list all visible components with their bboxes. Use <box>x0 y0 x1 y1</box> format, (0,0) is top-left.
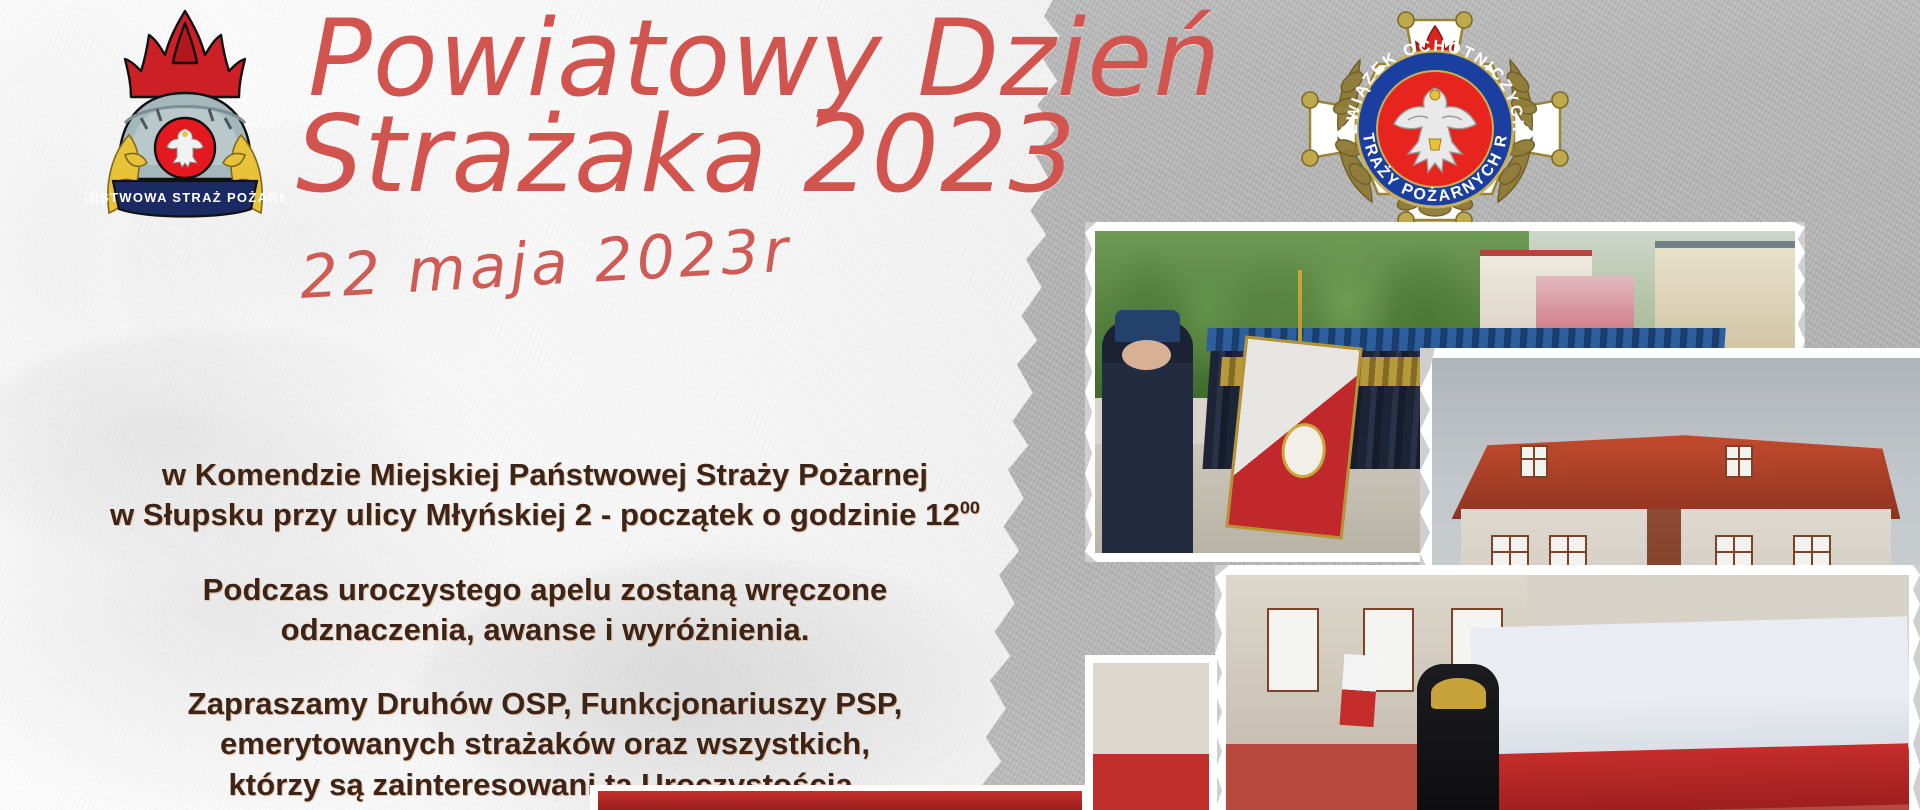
body-line: emerytowanych strażaków oraz wszystkich, <box>0 724 1090 764</box>
psp-emblem: PAŃSTWOWA STRAŻ POŻARNA <box>85 5 285 220</box>
psp-banner-text: PAŃSTWOWA STRAŻ POŻARNA <box>85 190 285 205</box>
photo-red-white-banner <box>1225 335 1363 539</box>
photo-officer-cap <box>1115 310 1181 342</box>
body-line: Zapraszamy Druhów OSP, Funkcjonariuszy P… <box>0 684 1090 724</box>
title-line-2: Strażaka 2023 <box>296 104 1110 206</box>
photo-flag-raising <box>1215 565 1920 810</box>
photo-gold-helmet <box>1431 678 1486 709</box>
photo-window <box>1725 445 1753 478</box>
body-copy: w Komendzie Miejskiej Państwowej Straży … <box>0 455 1090 810</box>
photo-banner-medallion <box>1279 421 1329 480</box>
photo-window <box>1520 445 1548 478</box>
zosp-rp-emblem: ZWIĄZEK OCHOTNICZYCH STRAŻY POŻARNYCH RP <box>1300 2 1570 237</box>
photo-window <box>1267 608 1319 692</box>
photo-officer-face <box>1122 340 1171 370</box>
time-superscript: 00 <box>960 498 980 518</box>
poster-title: Powiatowy Dzień Strażaka 2023 <box>290 8 1110 206</box>
photo-red-banner-stripe <box>1471 743 1909 810</box>
body-paragraph-2: Podczas uroczystego apelu zostaną wręczo… <box>0 570 1090 651</box>
photo-white-banner <box>1470 616 1909 759</box>
body-line: w Słupsku przy ulicy Młyńskiej 2 - począ… <box>0 495 1090 535</box>
photo-polish-flag <box>1340 654 1379 727</box>
body-paragraph-1: w Komendzie Miejskiej Państwowej Straży … <box>0 455 1090 536</box>
photo-bottom-strip <box>590 785 1090 810</box>
body-line: odznaczenia, awanse i wyróżnienia. <box>0 610 1090 650</box>
body-line: Podczas uroczystego apelu zostaną wręczo… <box>0 570 1090 610</box>
photo-sliver-left <box>1085 655 1217 810</box>
photo-officer <box>1102 321 1193 553</box>
body-line: w Komendzie Miejskiej Państwowej Straży … <box>0 455 1090 495</box>
poster-canvas: PAŃSTWOWA STRAŻ POŻARNA <box>0 0 1920 810</box>
